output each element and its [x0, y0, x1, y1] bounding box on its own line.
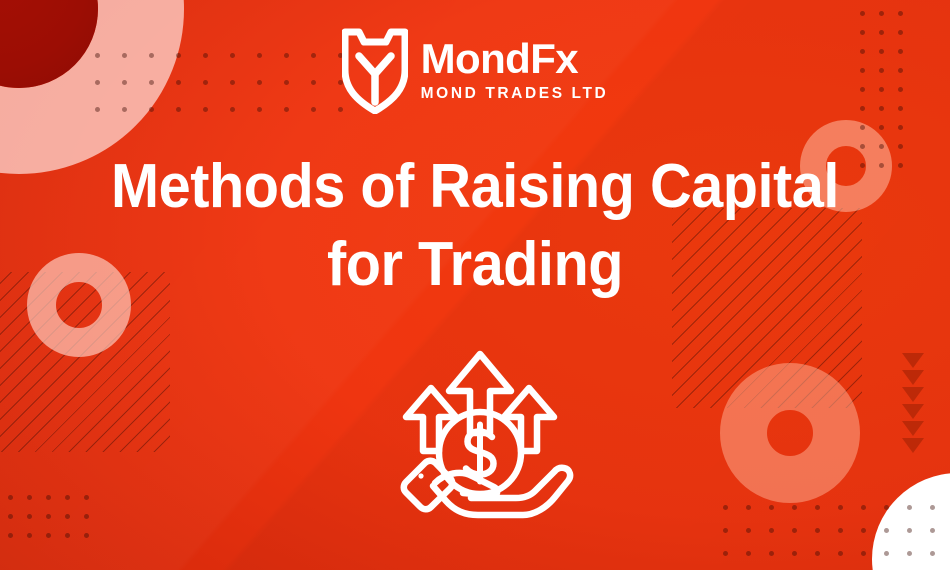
triangle-column-decoration: [902, 353, 924, 455]
grid-dot: [65, 533, 70, 538]
grid-dot: [8, 514, 13, 519]
brand-logo: MondFx MOND TRADES LTD: [0, 26, 950, 114]
grid-dot: [746, 528, 751, 533]
grid-dot: [769, 505, 774, 510]
grid-dot: [84, 514, 89, 519]
grid-dot: [861, 551, 866, 556]
grid-dot: [815, 505, 820, 510]
grid-dot: [65, 514, 70, 519]
triangle-down-icon: [902, 438, 924, 453]
bottom-right-large-ring: [720, 363, 860, 503]
grid-dot: [746, 551, 751, 556]
grid-dot: [46, 495, 51, 500]
triangle-down-icon: [902, 353, 924, 368]
grid-dot: [860, 125, 865, 130]
arrow-up-left-icon: [406, 388, 456, 451]
grid-dot: [861, 528, 866, 533]
grid-dot: [879, 11, 884, 16]
grid-dot: [930, 528, 935, 533]
grid-dot: [27, 514, 32, 519]
grid-dot: [84, 495, 89, 500]
page-title: Methods of Raising Capital for Trading: [33, 148, 917, 304]
grid-dot: [46, 514, 51, 519]
grid-dot: [879, 125, 884, 130]
arrow-up-right-icon: [504, 388, 554, 451]
brand-wordmark: MondFx: [421, 38, 609, 80]
triangle-down-icon: [902, 387, 924, 402]
grid-dot: [769, 528, 774, 533]
grid-dot: [860, 11, 865, 16]
grid-dot: [46, 533, 51, 538]
grid-dot: [8, 533, 13, 538]
triangle-down-icon: [902, 370, 924, 385]
grid-dot: [838, 505, 843, 510]
triangle-down-icon: [902, 421, 924, 436]
grid-dot: [723, 505, 728, 510]
grid-dot: [861, 505, 866, 510]
grid-dot: [907, 528, 912, 533]
grid-dot: [930, 505, 935, 510]
grid-dot: [838, 551, 843, 556]
grid-dot: [930, 551, 935, 556]
grid-dot: [792, 528, 797, 533]
grid-dot: [898, 125, 903, 130]
grid-dot: [8, 495, 13, 500]
grid-dot: [723, 551, 728, 556]
grid-dot: [898, 11, 903, 16]
grid-dot: [792, 551, 797, 556]
grid-dot: [907, 551, 912, 556]
grid-dot: [884, 528, 889, 533]
brand-logo-text: MondFx MOND TRADES LTD: [421, 38, 609, 102]
shield-chevron-icon: [342, 26, 408, 114]
grid-dot: [792, 505, 797, 510]
grid-dot: [838, 528, 843, 533]
grid-dot: [746, 505, 751, 510]
grid-dot: [27, 533, 32, 538]
grid-dot: [65, 495, 70, 500]
grid-dot: [815, 551, 820, 556]
brand-tagline: MOND TRADES LTD: [421, 86, 609, 102]
grid-dot: [723, 528, 728, 533]
grid-dot: [884, 551, 889, 556]
grid-dot: [884, 505, 889, 510]
grid-dot: [27, 495, 32, 500]
grid-dot: [907, 505, 912, 510]
hand-holding-dollar-coin-with-growth-arrows-icon: [375, 345, 585, 545]
triangle-down-icon: [902, 404, 924, 419]
grid-dot: [84, 533, 89, 538]
grid-dot: [815, 528, 820, 533]
marketing-banner: MondFx MOND TRADES LTD Methods of Raisin…: [0, 0, 950, 570]
grid-dot: [769, 551, 774, 556]
